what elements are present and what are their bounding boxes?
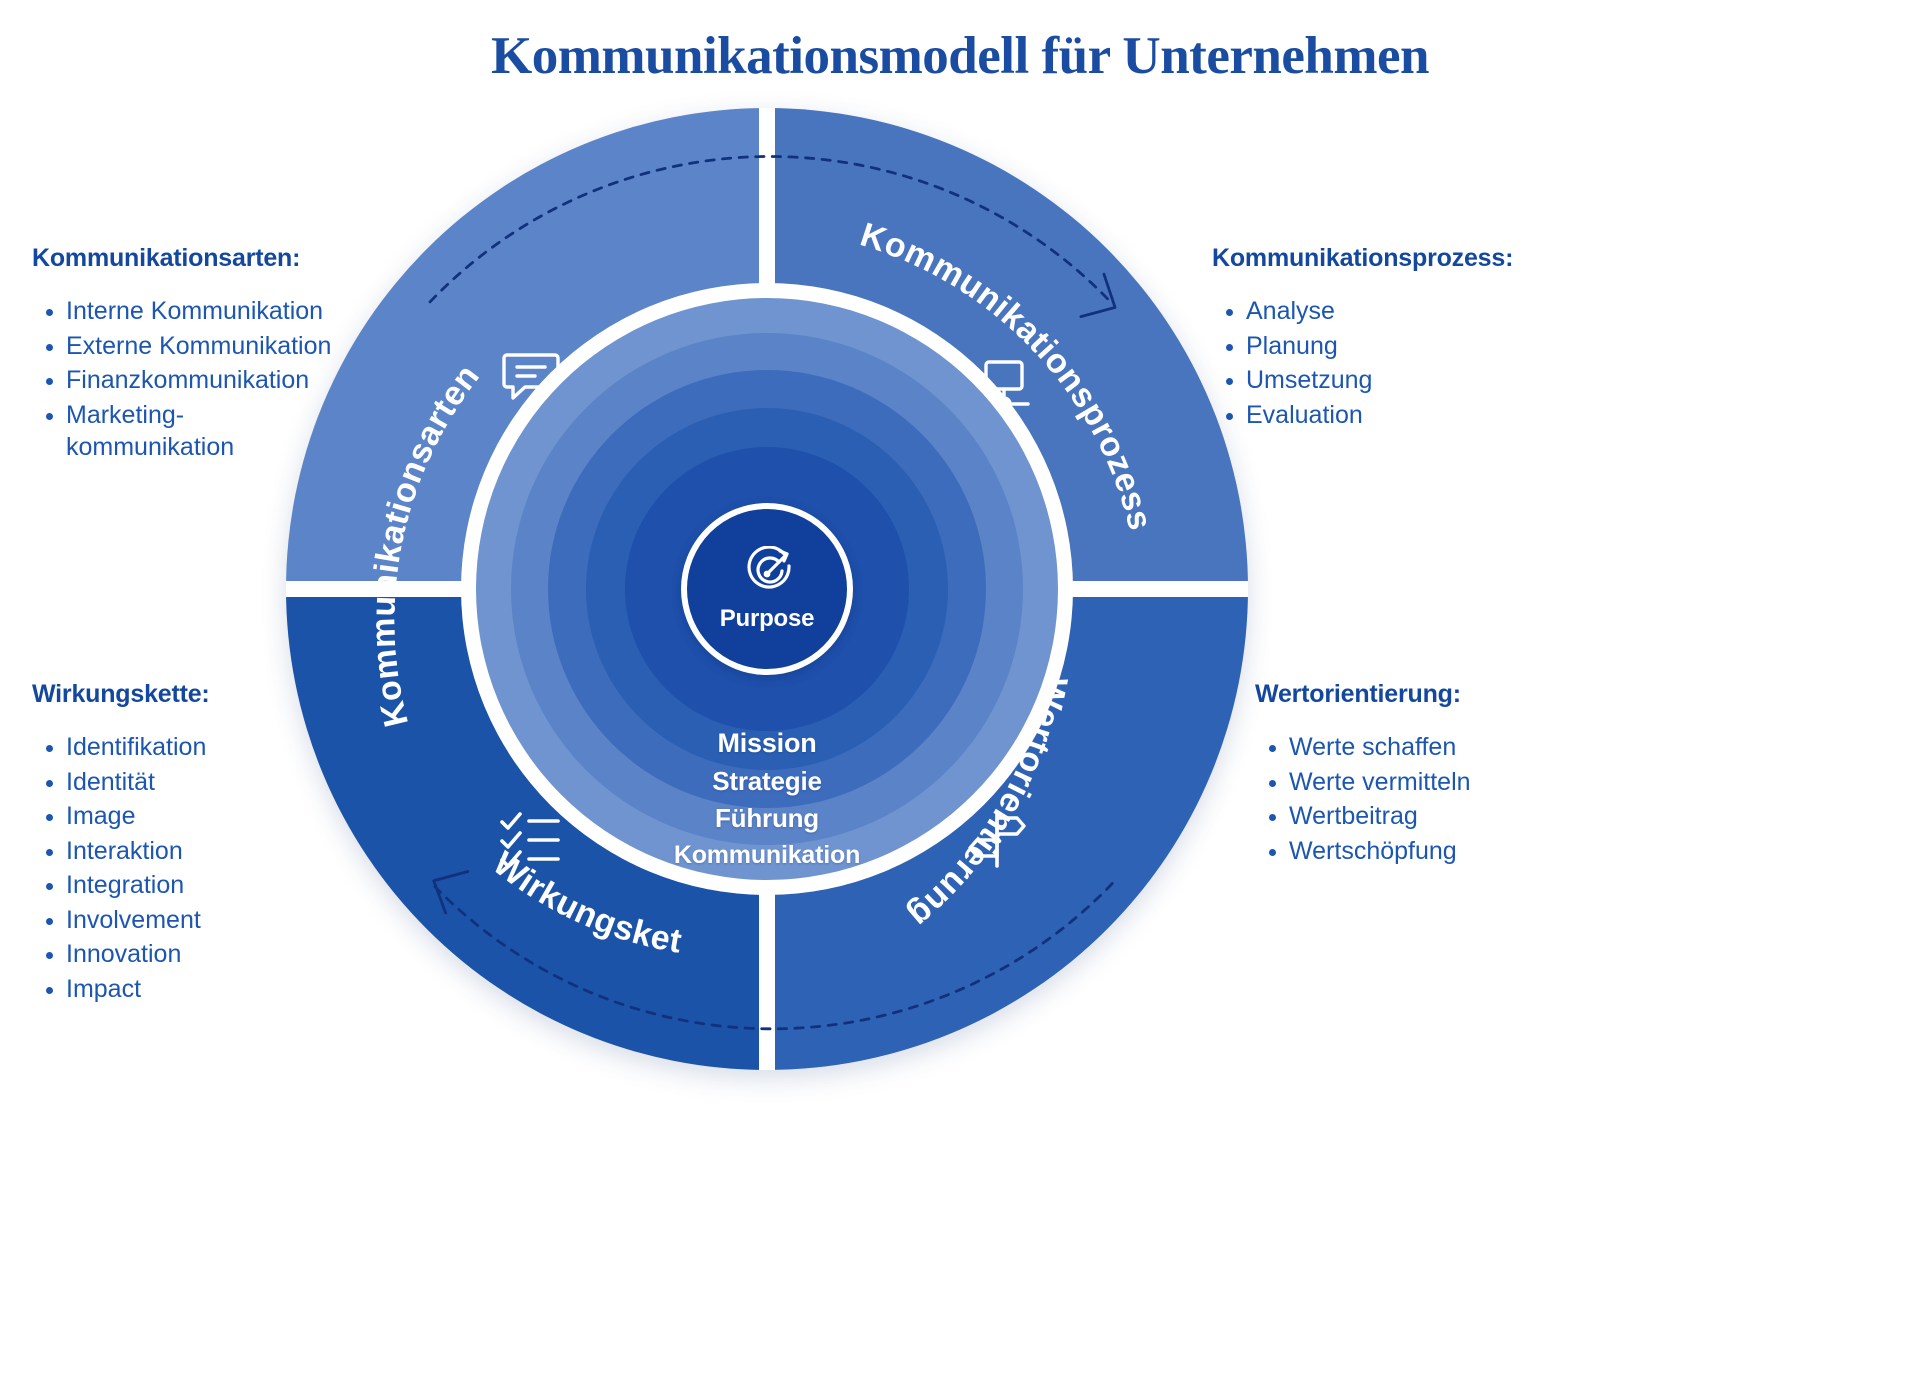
list-item-label: Wertschöpfung: [1289, 837, 1457, 865]
list-item: Interaktion: [32, 835, 210, 868]
list-item-label: Innovation: [66, 940, 181, 968]
list-item-label: Finanzkommunikation: [66, 366, 309, 394]
list-item-label: Evaluation: [1246, 401, 1363, 429]
list-item: Innovation: [32, 938, 210, 971]
list-item: Integration: [32, 869, 210, 902]
block-heading-kommunikationsprozess: Kommunikationsprozess:: [1212, 244, 1513, 273]
ring-label: Führung: [715, 803, 819, 845]
text-block-wertorientierung: Wertorientierung: Werte schaffen Werte v…: [1255, 680, 1471, 869]
list-item: Analyse: [1212, 295, 1513, 328]
list-item: Image: [32, 800, 210, 833]
list-item-label: Analyse: [1246, 297, 1335, 325]
list-item-label: Marketing- kommunikation: [66, 401, 234, 462]
ring-label: Mission: [717, 728, 816, 770]
communication-model-wheel: Kommunikationsarten Kommunikationsprozes…: [286, 108, 1248, 1070]
list-item: Umsetzung: [1212, 364, 1513, 397]
list-item-label: Involvement: [66, 906, 201, 934]
list-item: Evaluation: [1212, 399, 1513, 432]
list-item-label: Integration: [66, 871, 184, 899]
list-item: Involvement: [32, 904, 210, 937]
target-arrow-icon: [740, 546, 794, 600]
text-block-wirkungskette: Wirkungskette: Identifikation Identität …: [32, 680, 210, 1007]
list-item-label: Wertbeitrag: [1289, 802, 1418, 830]
list-item-label: Werte schaffen: [1289, 733, 1456, 761]
block-heading-wirkungskette: Wirkungskette:: [32, 680, 210, 709]
list-item: Impact: [32, 973, 210, 1006]
core-purpose[interactable]: Purpose: [681, 503, 853, 675]
ring-label: Strategie: [712, 766, 821, 808]
list-item: Wertschöpfung: [1255, 835, 1471, 868]
text-block-kommunikationsprozess: Kommunikationsprozess: Analyse Planung U…: [1212, 244, 1513, 433]
list-item-label: Werte vermitteln: [1289, 768, 1471, 796]
list-item: Werte vermitteln: [1255, 766, 1471, 799]
block-list-wirkungskette: Identifikation Identität Image Interakti…: [32, 731, 210, 1005]
list-item-label: Interaktion: [66, 837, 183, 865]
block-list-wertorientierung: Werte schaffen Werte vermitteln Wertbeit…: [1255, 731, 1471, 867]
block-list-kommunikationsprozess: Analyse Planung Umsetzung Evaluation: [1212, 295, 1513, 431]
list-item: Werte schaffen: [1255, 731, 1471, 764]
block-heading-wertorientierung: Wertorientierung:: [1255, 680, 1471, 709]
list-item-label: Interne Kommunikation: [66, 297, 323, 325]
list-item: Identität: [32, 766, 210, 799]
signpost-icon: [966, 808, 1028, 870]
page-title: Kommunikationsmodell für Unternehmen: [0, 26, 1920, 86]
list-item-label: Image: [66, 802, 135, 830]
list-item-label: Identifikation: [66, 733, 206, 761]
ring-label: Kommunikation: [674, 841, 860, 880]
checklist-icon: [498, 808, 562, 868]
core-label: Purpose: [720, 605, 815, 633]
list-item-label: Identität: [66, 768, 155, 796]
list-item-label: Planung: [1246, 332, 1338, 360]
list-item: Wertbeitrag: [1255, 800, 1471, 833]
list-item-label: Umsetzung: [1246, 366, 1372, 394]
list-item: Identifikation: [32, 731, 210, 764]
list-item-label: Impact: [66, 975, 141, 1003]
list-item: Planung: [1212, 330, 1513, 363]
